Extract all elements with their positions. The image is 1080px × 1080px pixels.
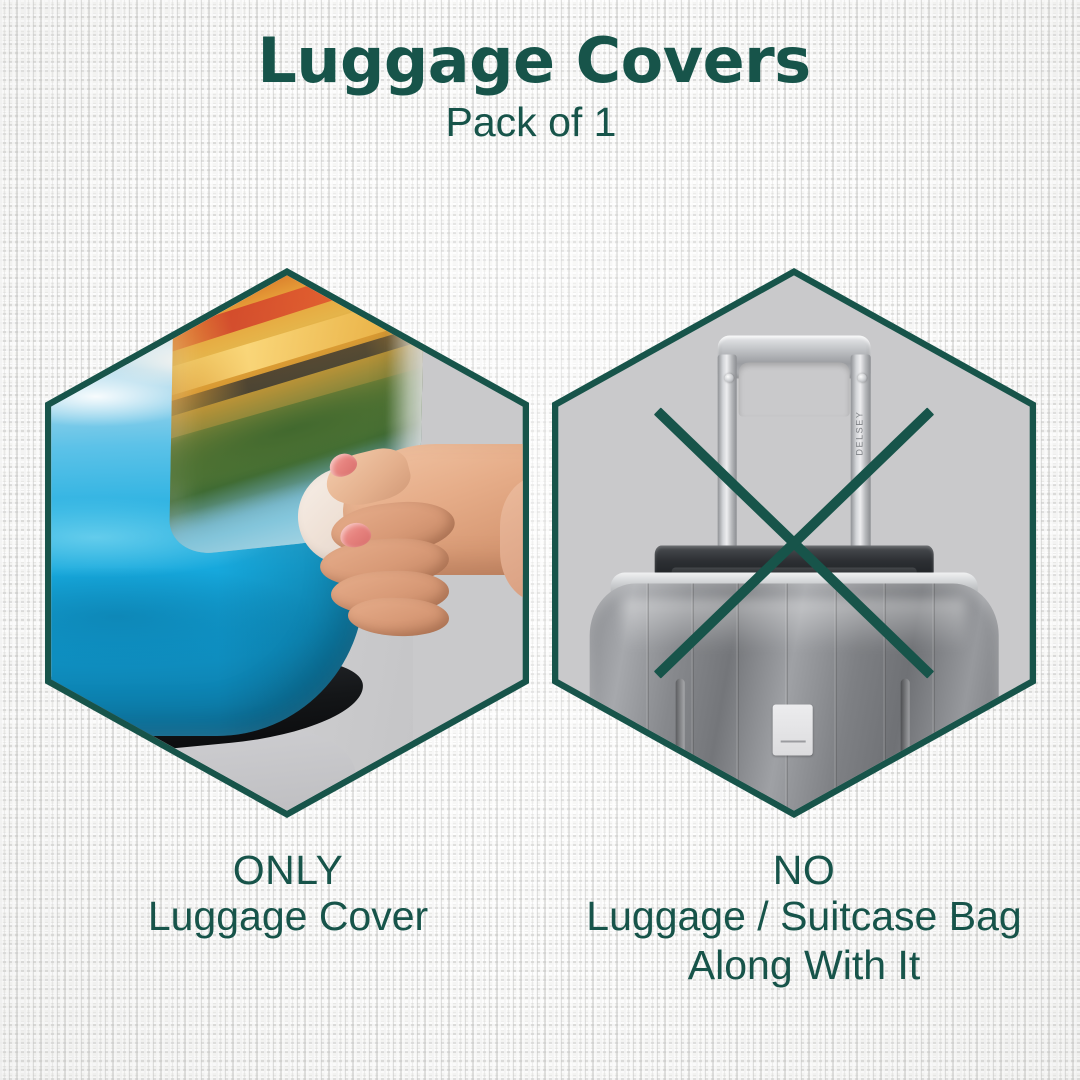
shell-gloss-highlight: [622, 598, 965, 650]
caption-headline: ONLY: [28, 848, 548, 892]
caption-headline: NO: [544, 848, 1064, 892]
trolley-post-left: [718, 354, 737, 559]
caption-only-cover: ONLY Luggage Cover: [28, 848, 548, 941]
suitcase-shell: [590, 583, 999, 818]
suitcase-brand-text: DELSEY: [854, 411, 864, 456]
caption-no-suitcase: NO Luggage / Suitcase Bag Along With It: [544, 848, 1064, 989]
trolley-post-right: [851, 354, 870, 559]
hardshell-suitcase: DELSEY: [562, 274, 1027, 813]
shell-groove-left: [675, 678, 684, 801]
scene-luggage-cover: [45, 268, 529, 818]
hand-pulling-cover: [326, 444, 529, 642]
caption-line: Luggage Cover: [28, 892, 548, 940]
hexagon-photo-area: [45, 268, 529, 818]
shell-rib: [692, 583, 694, 818]
page-title: Luggage Covers: [0, 30, 1080, 92]
page-subtitle: Pack of 1: [0, 102, 1080, 143]
product-infographic: Luggage Covers Pack of 1: [0, 0, 1080, 1080]
caption-line: Luggage / Suitcase Bag: [544, 892, 1064, 940]
header: Luggage Covers Pack of 1: [0, 30, 1080, 143]
shell-rib: [835, 583, 837, 818]
shell-rib: [786, 583, 788, 818]
shell-rib: [884, 583, 886, 818]
hexagon-panel-no-suitcase: DELSEY: [552, 268, 1036, 818]
shell-rib: [933, 583, 935, 818]
hexagon-photo-area: DELSEY: [552, 268, 1036, 818]
shell-rib: [647, 583, 649, 818]
suitcase-lock-plate: [773, 705, 813, 756]
scene-suitcase: DELSEY: [552, 268, 1036, 818]
hexagon-panel-only-cover: [45, 268, 529, 818]
trolley-handle-opening: [738, 362, 850, 416]
shell-groove-right: [900, 678, 909, 801]
caption-line: Along With It: [544, 941, 1064, 989]
